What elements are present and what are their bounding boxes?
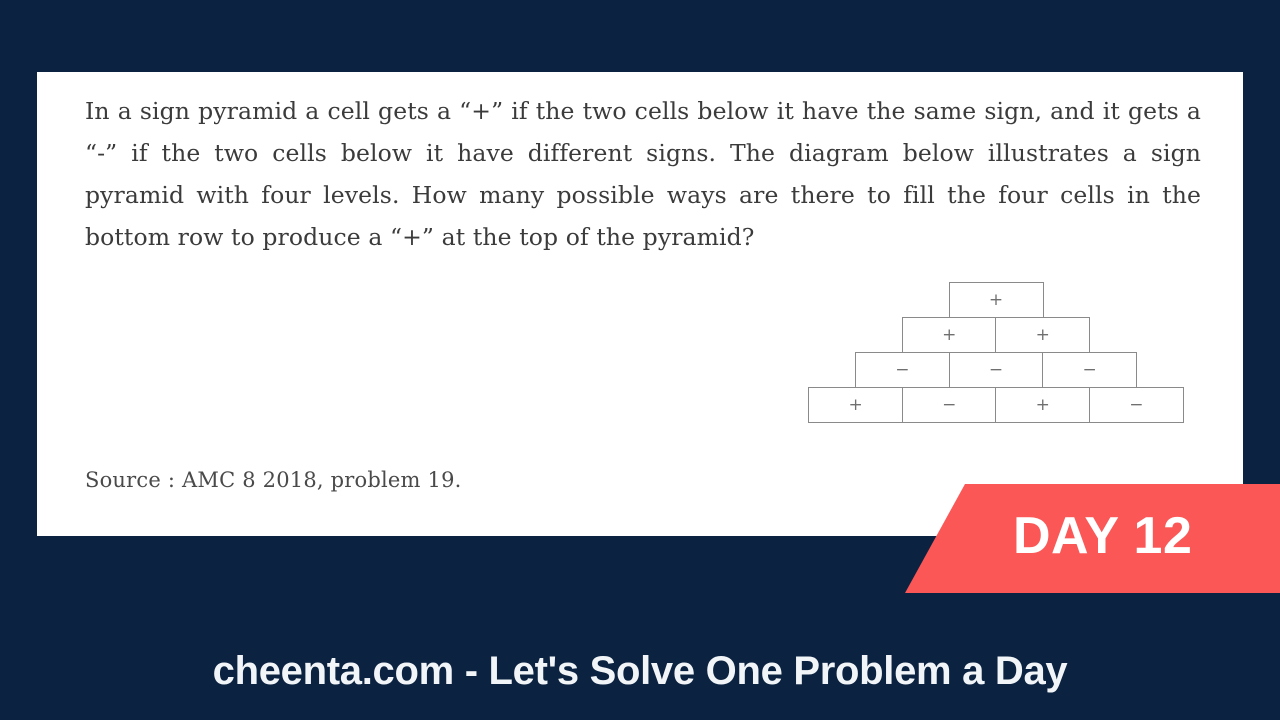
pyramid-row-4: + − + − bbox=[805, 387, 1187, 423]
pyramid-cell: + bbox=[902, 317, 997, 353]
problem-statement: In a sign pyramid a cell gets a “+” if t… bbox=[85, 90, 1201, 258]
pyramid-row-3: − − − bbox=[805, 352, 1187, 388]
pyramid-cell: − bbox=[855, 352, 950, 388]
pyramid-cell: − bbox=[902, 387, 997, 423]
pyramid-cell: + bbox=[808, 387, 903, 423]
pyramid-cell: + bbox=[995, 387, 1090, 423]
pyramid-cell: + bbox=[995, 317, 1090, 353]
pyramid-cell: + bbox=[949, 282, 1044, 318]
pyramid-cell: − bbox=[949, 352, 1044, 388]
day-banner-label: DAY 12 bbox=[1013, 506, 1192, 566]
footer-tagline: cheenta.com - Let's Solve One Problem a … bbox=[213, 649, 1068, 694]
source-attribution: Source : AMC 8 2018, problem 19. bbox=[85, 468, 462, 492]
pyramid-cell: − bbox=[1042, 352, 1137, 388]
footer-bar: cheenta.com - Let's Solve One Problem a … bbox=[0, 636, 1280, 706]
day-banner: DAY 12 bbox=[905, 484, 1280, 593]
problem-card: In a sign pyramid a cell gets a “+” if t… bbox=[37, 72, 1243, 536]
pyramid-row-2: + + bbox=[805, 317, 1187, 353]
sign-pyramid-diagram: + + + − − − + − + − bbox=[805, 283, 1187, 423]
pyramid-row-1: + bbox=[805, 282, 1187, 318]
pyramid-cell: − bbox=[1089, 387, 1184, 423]
